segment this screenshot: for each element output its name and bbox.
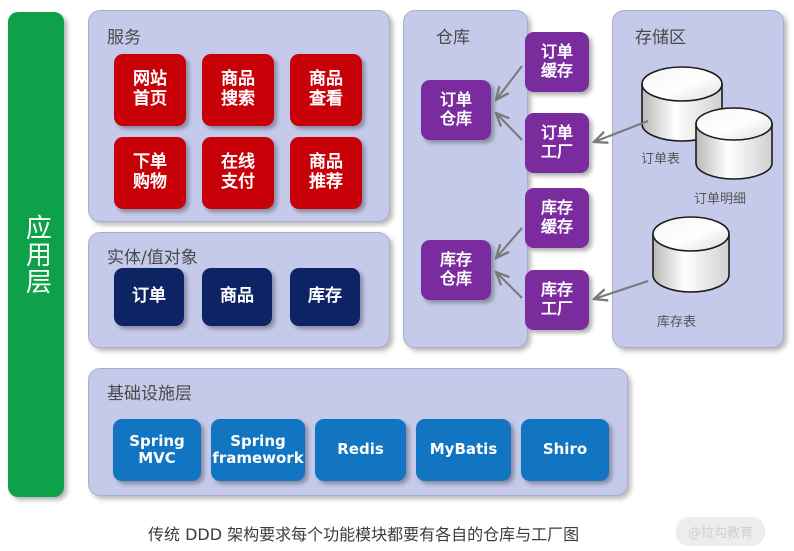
panel-service-title: 服务	[107, 23, 141, 48]
infra-tile-spring-framework[interactable]: Spring framework	[211, 419, 305, 481]
service-tile-website-home[interactable]: 网站 首页	[114, 54, 186, 126]
watermark-badge: @拉勾教育	[676, 517, 765, 546]
database-label-order-detail: 订单明细	[694, 188, 746, 207]
tile-order-cache[interactable]: 订单 缓存	[525, 32, 589, 92]
panel-repository-title: 仓库	[436, 23, 470, 48]
infra-tile-spring-mvc[interactable]: Spring MVC	[113, 419, 201, 481]
infra-tile-redis[interactable]: Redis	[315, 419, 406, 481]
application-layer-label: 应用层	[21, 214, 52, 295]
application-layer-bar: 应用层	[8, 12, 64, 497]
service-tile-online-payment[interactable]: 在线 支付	[202, 137, 274, 209]
service-tile-product-recommend[interactable]: 商品 推荐	[290, 137, 362, 209]
service-tile-product-view[interactable]: 商品 查看	[290, 54, 362, 126]
database-label-order-table: 订单表	[641, 148, 680, 167]
entity-tile-product[interactable]: 商品	[202, 268, 272, 326]
panel-infrastructure-title: 基础设施层	[107, 379, 192, 404]
tile-order-factory[interactable]: 订单 工厂	[525, 113, 589, 173]
entity-tile-order[interactable]: 订单	[114, 268, 184, 326]
tile-inventory-factory[interactable]: 库存 工厂	[525, 270, 589, 330]
panel-entity-title: 实体/值对象	[107, 243, 198, 268]
entity-tile-inventory[interactable]: 库存	[290, 268, 360, 326]
repository-tile-order-repository[interactable]: 订单 仓库	[421, 80, 491, 140]
diagram-caption: 传统 DDD 架构要求每个功能模块都要有各自的仓库与工厂图	[148, 521, 579, 545]
database-cylinder-inventory-table	[651, 215, 731, 295]
repository-tile-inventory-repository[interactable]: 库存 仓库	[421, 240, 491, 300]
infra-tile-mybatis[interactable]: MyBatis	[416, 419, 511, 481]
diagram-canvas: 应用层 服务 网站 首页 商品 搜索 商品 查看 下单 购物 在线 支付 商品 …	[0, 0, 794, 551]
service-tile-place-order[interactable]: 下单 购物	[114, 137, 186, 209]
database-cylinder-order-detail	[694, 106, 774, 182]
panel-storage-title: 存储区	[635, 23, 686, 48]
tile-inventory-cache[interactable]: 库存 缓存	[525, 188, 589, 248]
database-label-inventory-table: 库存表	[657, 311, 696, 330]
service-tile-product-search[interactable]: 商品 搜索	[202, 54, 274, 126]
infra-tile-shiro[interactable]: Shiro	[521, 419, 609, 481]
